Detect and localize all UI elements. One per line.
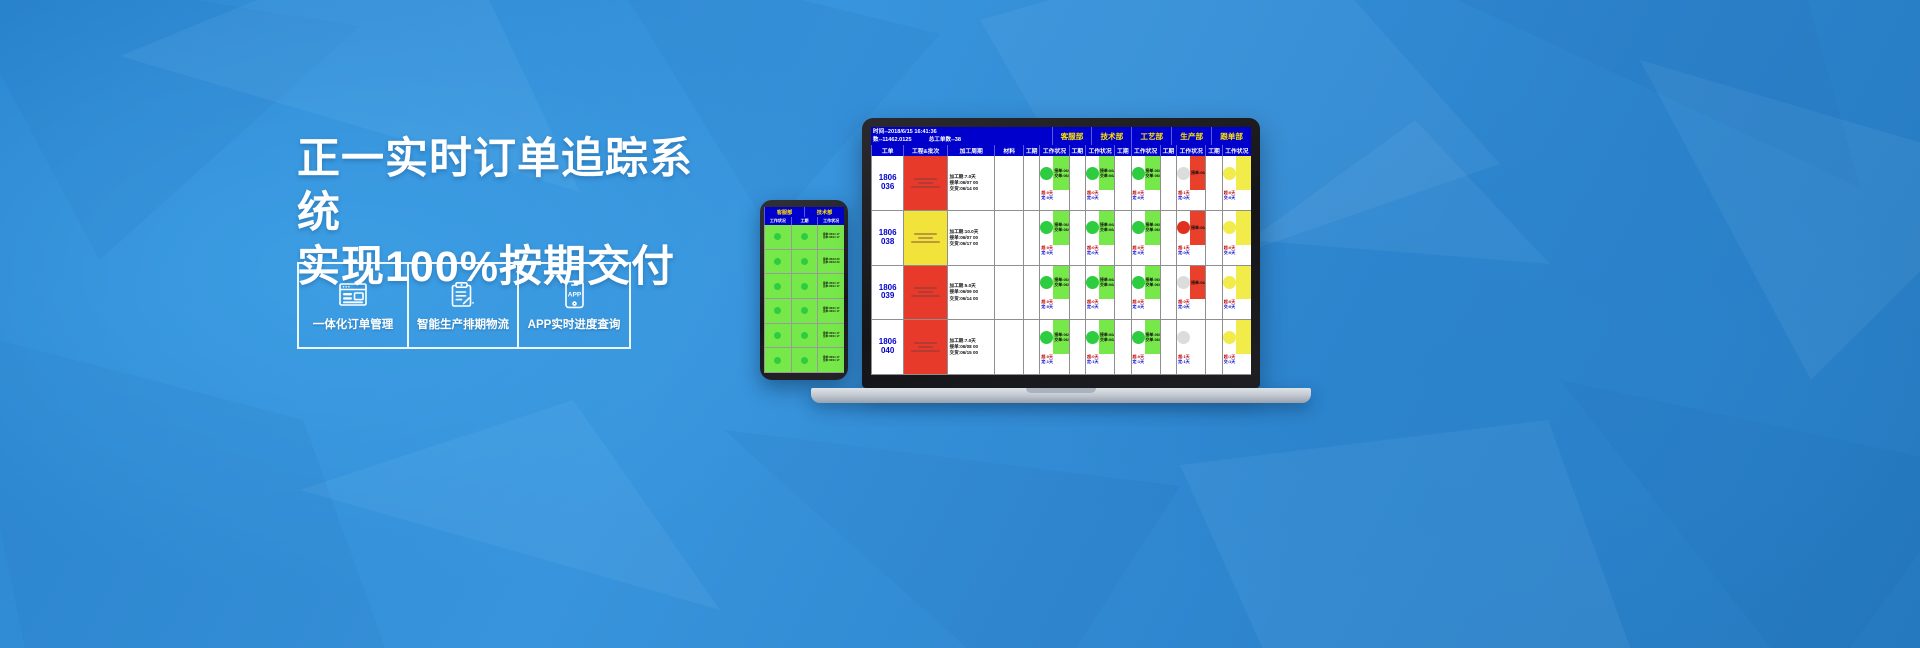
duration-cell: [1205, 156, 1221, 210]
status-indicator-dot: [1040, 276, 1053, 289]
work-status-cell[interactable]: 接单:06/11 17交单:06/11 17超:0天定:0天: [1131, 156, 1160, 210]
redacted-text: [914, 342, 937, 344]
order-number-cell: 1806040: [871, 320, 903, 374]
feature-label: 智能生产排期物流: [417, 316, 509, 332]
status-timestamps: 接单:06/13 10: [1190, 156, 1205, 190]
column-header: 工期: [1205, 145, 1221, 156]
duration-cell: [1023, 156, 1039, 210]
work-status-cell[interactable]: 接单:06/11 17交单:06/11 17超:0天定:1天: [1085, 320, 1114, 374]
status-timestamps: [1236, 266, 1251, 300]
status-timestamps: [1236, 320, 1251, 354]
work-status-cell[interactable]: 超:1天交:1天: [1222, 320, 1251, 374]
scheduled-label: 交:0天: [1223, 304, 1251, 309]
laptop-mockup: 时间--2018/6/15 16:41:36 数--11462.0125 总工单…: [862, 118, 1311, 403]
timestamp: 交单:06/11 17: [1146, 338, 1160, 342]
column-header: 工期: [1160, 145, 1176, 156]
svg-text:APP: APP: [567, 291, 581, 298]
phone-timestamp-cell: 接单:06/11 17交单:06/11 17: [817, 324, 844, 348]
status-indicator-dot: [1040, 167, 1053, 180]
duration-cell: [1023, 320, 1039, 374]
phone-status-cell[interactable]: [764, 324, 791, 348]
timestamp: 交单:06/11 17: [823, 311, 840, 314]
scheduled-label: 交:0天: [1223, 195, 1251, 200]
order-table-body: 1806036加工期:7.0天接单:06/07 00交货:06/14 00接单:…: [871, 156, 1251, 375]
duration-cell: [1205, 211, 1221, 265]
status-timestamps: 接单:06/11 17交单:06/11 17: [1053, 266, 1068, 300]
status-indicator-dot: [1086, 331, 1099, 344]
table-row[interactable]: 1806039加工期:5.0天接单:06/09 00交货:06/14 00接单:…: [871, 266, 1251, 321]
phone-list-item[interactable]: 接单:06/12 20交单:06/12 20: [764, 250, 844, 275]
status-timestamps: 接单:06/11 17交单:06/11 17: [1145, 320, 1160, 354]
status-indicator-dot: [1086, 276, 1099, 289]
timestamp: 交单:06/11 17: [1054, 338, 1068, 342]
mobile-app-icon: APP: [564, 279, 585, 309]
duration-cell: [1069, 211, 1085, 265]
status-timestamps: 接单:06/12 09: [1190, 266, 1205, 300]
duration-cell: [1160, 320, 1176, 374]
column-header: 工期: [1114, 145, 1130, 156]
work-status-cell[interactable]: 接单:06/11 17交单:06/12 09超:0天定:0天: [1131, 266, 1160, 320]
department-header: 跟单部: [1211, 127, 1251, 145]
status-indicator-dot: [1086, 221, 1099, 234]
status-indicator-dot: [801, 307, 808, 314]
dashboard-counter-line: 数--11462.0125 总工单数--38: [873, 136, 1050, 144]
feature-item-order-management[interactable]: 一体化订单管理: [299, 264, 409, 347]
duration-cell: [1069, 266, 1085, 320]
duration-cell: [1114, 211, 1130, 265]
timestamp: 接单:06/13 10: [1191, 171, 1205, 175]
status-indicator-dot: [1132, 331, 1145, 344]
work-status-cell[interactable]: 接单:06/11 17交单:06/11 17超:0天定:1天: [1039, 320, 1068, 374]
browser-window-icon: [338, 279, 368, 309]
phone-column: 工作状况: [817, 217, 844, 225]
timestamp: 交单:06/11 17: [823, 360, 840, 363]
phone-timestamp-cell: 接单:06/11 17交单:06/11 17: [817, 274, 844, 298]
timestamp: 接单:06/12 09: [1191, 281, 1205, 285]
order-tracking-dashboard: 时间--2018/6/15 16:41:36 数--11462.0125 总工单…: [871, 127, 1251, 375]
material-cell: [994, 266, 1023, 320]
feature-item-production-scheduling[interactable]: 智能生产排期物流: [409, 264, 519, 347]
status-indicator-dot: [1132, 167, 1145, 180]
order-number-cell: 1806039: [871, 266, 903, 320]
bg-polygon: [700, 430, 1180, 648]
phone-list-item[interactable]: 接单:06/11 17交单:06/11 17: [764, 299, 844, 324]
department-header: 生产部: [1171, 127, 1211, 145]
duration-cell: [1114, 156, 1130, 210]
timestamp: 交单:06/12 20: [1054, 228, 1068, 232]
scheduled-label: 定:0天: [1132, 195, 1160, 200]
duration-cell: [1160, 266, 1176, 320]
redacted-text: [918, 291, 933, 293]
phone-status-cell[interactable]: [764, 274, 791, 298]
timestamp: 接单:06/14 16: [1191, 226, 1205, 230]
phone-status-cell[interactable]: [764, 225, 791, 249]
column-header-row: 工单工程&批次加工周期材料工期工作状况工期工作状况工期工作状况工期工作状况工期工…: [871, 145, 1251, 156]
phone-column-header: 工作状况 工期 工作状况: [764, 217, 844, 225]
redacted-text: [911, 186, 940, 188]
status-timestamps: 接单:06/11 17交单:06/11 17: [1099, 266, 1114, 300]
duration-cell: [1023, 266, 1039, 320]
timestamp: 交单:06/11 17: [1100, 174, 1114, 178]
bg-polygon: [1640, 60, 1920, 380]
table-row[interactable]: 1806038加工期:10.0天接单:06/07 00交货:06/17 00接单…: [871, 211, 1251, 266]
phone-timestamp-cell: 接单:06/12 20交单:06/12 20: [817, 250, 844, 274]
dashboard-total-orders: 总工单数--38: [929, 137, 961, 143]
timestamp: 交单:06/11 17: [1100, 283, 1114, 287]
processing-cycle-cell: 加工期:5.0天接单:06/09 00交货:06/14 00: [947, 266, 995, 320]
timestamp: 交单:06/12 09: [1146, 283, 1160, 287]
status-timestamps: [1236, 156, 1251, 190]
scheduled-label: 定:1天: [1040, 359, 1068, 364]
phone-status-cell[interactable]: [764, 250, 791, 274]
phone-status-cell[interactable]: [791, 225, 818, 249]
work-status-cell[interactable]: 超:0天交:0天: [1222, 156, 1251, 210]
phone-status-cell[interactable]: [791, 250, 818, 274]
work-status-cell[interactable]: 接单:06/11 17交单:06/11 17超:0天定:0天: [1039, 156, 1068, 210]
phone-order-list: 接单:06/11 17交单:06/11 17接单:06/12 20交单:06/1…: [764, 225, 844, 373]
feature-list: 一体化订单管理 智能生产排期物流: [297, 262, 631, 349]
phone-status-cell[interactable]: [791, 274, 818, 298]
column-header: 工期: [1023, 145, 1039, 156]
status-indicator-dot: [774, 332, 781, 339]
processing-cycle-cell: 加工期:7.0天接单:06/07 00交货:06/14 00: [947, 156, 995, 210]
status-timestamps: 接单:06/14 16: [1190, 211, 1205, 245]
status-indicator-dot: [1086, 167, 1099, 180]
material-cell: [994, 320, 1023, 374]
scheduled-label: 定:0天: [1040, 250, 1068, 255]
department-header-row: 客服部技术部工艺部生产部跟单部: [1052, 127, 1252, 145]
phone-status-cell[interactable]: [764, 299, 791, 323]
phone-frame: 客服部 技术部 工作状况 工期 工作状况 接单:06/11 17交单:06/11…: [760, 200, 848, 380]
phone-list-item[interactable]: 接单:06/11 17交单:06/11 17: [764, 225, 844, 250]
scheduled-label: 定:0天: [1086, 304, 1114, 309]
status-indicator-dot: [1177, 221, 1190, 234]
work-status-cell[interactable]: 超:1天定:1天: [1176, 320, 1205, 374]
column-header: 工作状况: [1222, 145, 1251, 156]
phone-column: 工作状况: [764, 217, 791, 225]
redacted-text: [918, 346, 933, 348]
dashboard-count: 数--11462.0125: [873, 137, 912, 143]
timestamp: 交单:06/11 17: [823, 336, 840, 339]
scheduled-label: 定:0天: [1177, 304, 1205, 309]
work-status-cell[interactable]: 超:0天交:0天: [1222, 211, 1251, 265]
redacted-text: [918, 237, 933, 239]
work-status-cell[interactable]: 超:0天交:0天: [1222, 266, 1251, 320]
status-indicator-dot: [774, 258, 781, 265]
timestamp: 交单:06/11 17: [823, 237, 840, 240]
redacted-text: [911, 241, 940, 243]
work-status-cell[interactable]: 接单:06/14 00交单:06/14 00超:0天定:0天: [1131, 211, 1160, 265]
project-batch-cell: [903, 266, 947, 320]
column-header: 工期: [1069, 145, 1085, 156]
cycle-line: 交货:06/14 00: [949, 296, 978, 302]
scheduled-label: 定:0天: [1086, 250, 1114, 255]
status-indicator-dot: [1040, 331, 1053, 344]
clipboard-pen-icon: [450, 279, 476, 309]
project-batch-cell: [903, 320, 947, 374]
phone-timestamp-cell: 接单:06/11 17交单:06/11 17: [817, 225, 844, 249]
project-batch-cell: [903, 156, 947, 210]
project-batch-cell: [903, 211, 947, 265]
status-indicator-dot: [801, 332, 808, 339]
material-cell: [994, 156, 1023, 210]
phone-status-cell[interactable]: [764, 348, 791, 372]
redacted-text: [911, 295, 940, 297]
timestamp: 交单:06/11 17: [1146, 174, 1160, 178]
column-header: 工作状况: [1085, 145, 1114, 156]
scheduled-label: 定:0天: [1132, 304, 1160, 309]
work-status-cell[interactable]: 接单:06/11 17交单:06/11 17超:0天定:0天: [1085, 156, 1114, 210]
cycle-line: 交货:06/17 00: [949, 241, 978, 247]
column-header: 工作状况: [1176, 145, 1205, 156]
duration-cell: [1205, 266, 1221, 320]
table-row[interactable]: 1806040加工期:7.0天接单:06/08 00交货:06/15 00接单:…: [871, 320, 1251, 375]
status-indicator-dot: [801, 233, 808, 240]
status-timestamps: [1236, 211, 1251, 245]
phone-department: 客服部: [764, 207, 804, 217]
status-timestamps: 接单:06/12 20交单:06/12 20: [1053, 211, 1068, 245]
laptop-base: [811, 388, 1311, 403]
scheduled-label: 定:0天: [1040, 195, 1068, 200]
timestamp: 交单:06/14 00: [1146, 228, 1160, 232]
work-status-cell[interactable]: 接单:06/14 00交单:06/14 00超:0天定:0天: [1085, 211, 1114, 265]
duration-cell: [1069, 156, 1085, 210]
status-timestamps: 接单:06/11 17交单:06/11 17: [1145, 156, 1160, 190]
status-timestamps: [1190, 320, 1205, 354]
cycle-line: 交货:06/15 00: [949, 350, 978, 356]
scheduled-label: 交:0天: [1223, 250, 1251, 255]
column-header: 工程&批次: [903, 145, 947, 156]
processing-cycle-cell: 加工期:7.0天接单:06/08 00交货:06/15 00: [947, 320, 995, 374]
phone-list-item[interactable]: 接单:06/11 17交单:06/11 17: [764, 348, 844, 373]
status-indicator-dot: [774, 357, 781, 364]
phone-timestamp-cell: 接单:06/11 17交单:06/11 17: [817, 299, 844, 323]
duration-cell: [1069, 320, 1085, 374]
redacted-text: [918, 182, 933, 184]
status-indicator-dot: [1223, 221, 1236, 234]
department-header: 技术部: [1091, 127, 1131, 145]
phone-list-item[interactable]: 接单:06/11 17交单:06/11 17: [764, 274, 844, 299]
scheduled-label: 定:1天: [1086, 359, 1114, 364]
timestamp: 交单:06/11 17: [1054, 283, 1068, 287]
feature-item-app-progress[interactable]: APP APP实时进度查询: [519, 264, 629, 347]
duration-cell: [1023, 211, 1039, 265]
status-indicator-dot: [801, 357, 808, 364]
status-timestamps: 接单:06/11 17交单:06/11 17: [1053, 156, 1068, 190]
bg-polygon: [1180, 420, 1640, 648]
phone-list-item[interactable]: 接单:06/11 17交单:06/11 17: [764, 324, 844, 349]
timestamp: 交单:06/14 00: [1100, 228, 1114, 232]
work-status-cell[interactable]: 接单:06/12 20交单:06/12 20超:0天定:0天: [1039, 211, 1068, 265]
status-indicator-dot: [774, 283, 781, 290]
duration-cell: [1205, 320, 1221, 374]
status-indicator-dot: [1223, 167, 1236, 180]
timestamp: 交单:06/11 17: [1054, 174, 1068, 178]
column-header: 材料: [994, 145, 1023, 156]
redacted-text: [911, 350, 940, 352]
status-indicator-dot: [1132, 276, 1145, 289]
processing-cycle-cell: 加工期:10.0天接单:06/07 00交货:06/17 00: [947, 211, 995, 265]
status-timestamps: 接单:06/11 17交单:06/11 17: [1053, 320, 1068, 354]
work-status-cell[interactable]: 接单:06/11 17交单:06/11 17超:0天定:1天: [1131, 320, 1160, 374]
dashboard-header: 时间--2018/6/15 16:41:36 数--11462.0125 总工单…: [871, 127, 1251, 156]
scheduled-label: 定:0天: [1132, 250, 1160, 255]
phone-timestamp-cell: 接单:06/11 17交单:06/11 17: [817, 348, 844, 372]
cycle-line: 交货:06/14 00: [949, 186, 978, 192]
duration-cell: [1160, 156, 1176, 210]
status-indicator-dot: [1132, 221, 1145, 234]
duration-cell: [1114, 320, 1130, 374]
timestamp: 交单:06/11 17: [823, 286, 840, 289]
phone-status-cell[interactable]: [791, 299, 818, 323]
laptop-screen: 时间--2018/6/15 16:41:36 数--11462.0125 总工单…: [871, 127, 1251, 375]
feature-label: 一体化订单管理: [313, 316, 394, 332]
scheduled-label: 定:0天: [1040, 304, 1068, 309]
feature-label: APP实时进度查询: [528, 316, 621, 332]
phone-mockup: 客服部 技术部 工作状况 工期 工作状况 接单:06/11 17交单:06/11…: [760, 200, 848, 380]
column-header: 工单: [871, 145, 903, 156]
column-header: 加工周期: [947, 145, 995, 156]
status-indicator-dot: [1040, 221, 1053, 234]
status-indicator-dot: [1177, 276, 1190, 289]
phone-screen: 客服部 技术部 工作状况 工期 工作状况 接单:06/11 17交单:06/11…: [764, 207, 844, 373]
duration-cell: [1114, 266, 1130, 320]
phone-column: 工期: [791, 217, 818, 225]
phone-department-header: 客服部 技术部: [764, 207, 844, 217]
status-indicator-dot: [1177, 167, 1190, 180]
redacted-text: [914, 233, 937, 235]
department-header: 客服部: [1052, 127, 1092, 145]
column-header: 工作状况: [1131, 145, 1160, 156]
scheduled-label: 定:1天: [1177, 359, 1205, 364]
status-indicator-dot: [1223, 331, 1236, 344]
phone-status-cell[interactable]: [791, 324, 818, 348]
redacted-text: [914, 178, 937, 180]
scheduled-label: 定:0天: [1177, 250, 1205, 255]
status-indicator-dot: [801, 283, 808, 290]
phone-department: 技术部: [804, 207, 844, 217]
status-indicator-dot: [774, 307, 781, 314]
table-row[interactable]: 1806036加工期:7.0天接单:06/07 00交货:06/14 00接单:…: [871, 156, 1251, 211]
duration-cell: [1160, 211, 1176, 265]
order-number-cell: 1806036: [871, 156, 903, 210]
status-timestamps: 接单:06/14 00交单:06/14 00: [1145, 211, 1160, 245]
promo-banner: 正一实时订单追踪系统 实现100%按期交付 一体化订单管理: [0, 0, 1920, 648]
column-header: 工作状况: [1039, 145, 1068, 156]
scheduled-label: 定:1天: [1132, 359, 1160, 364]
work-status-cell[interactable]: 接单:06/13 10超:1天定:0天: [1176, 156, 1205, 210]
work-status-cell[interactable]: 接单:06/11 17交单:06/11 17超:0天定:0天: [1085, 266, 1114, 320]
status-timestamps: 接单:06/11 17交单:06/11 17: [1099, 320, 1114, 354]
status-timestamps: 接单:06/11 17交单:06/12 09: [1145, 266, 1160, 300]
material-cell: [994, 211, 1023, 265]
department-header: 工艺部: [1131, 127, 1171, 145]
order-number-cell: 1806038: [871, 211, 903, 265]
status-indicator-dot: [774, 233, 781, 240]
scheduled-label: 交:1天: [1223, 359, 1251, 364]
status-timestamps: 接单:06/14 00交单:06/14 00: [1099, 211, 1114, 245]
laptop-lid: 时间--2018/6/15 16:41:36 数--11462.0125 总工单…: [862, 118, 1260, 388]
status-indicator-dot: [801, 258, 808, 265]
scheduled-label: 定:0天: [1086, 195, 1114, 200]
scheduled-label: 定:0天: [1177, 195, 1205, 200]
status-indicator-dot: [1223, 276, 1236, 289]
work-status-cell[interactable]: 接单:06/14 16超:1天定:0天: [1176, 211, 1205, 265]
status-timestamps: 接单:06/11 17交单:06/11 17: [1099, 156, 1114, 190]
timestamp: 交单:06/11 17: [1100, 338, 1114, 342]
redacted-text: [914, 287, 937, 289]
timestamp: 交单:06/12 20: [823, 262, 840, 265]
work-status-cell[interactable]: 接单:06/11 17交单:06/11 17超:0天定:0天: [1039, 266, 1068, 320]
dashboard-time: 时间--2018/6/15 16:41:36: [873, 128, 1050, 136]
status-indicator-dot: [1177, 331, 1190, 344]
phone-status-cell[interactable]: [791, 348, 818, 372]
dashboard-meta: 时间--2018/6/15 16:41:36 数--11462.0125 总工单…: [871, 127, 1052, 145]
work-status-cell[interactable]: 接单:06/12 09超:0天定:0天: [1176, 266, 1205, 320]
